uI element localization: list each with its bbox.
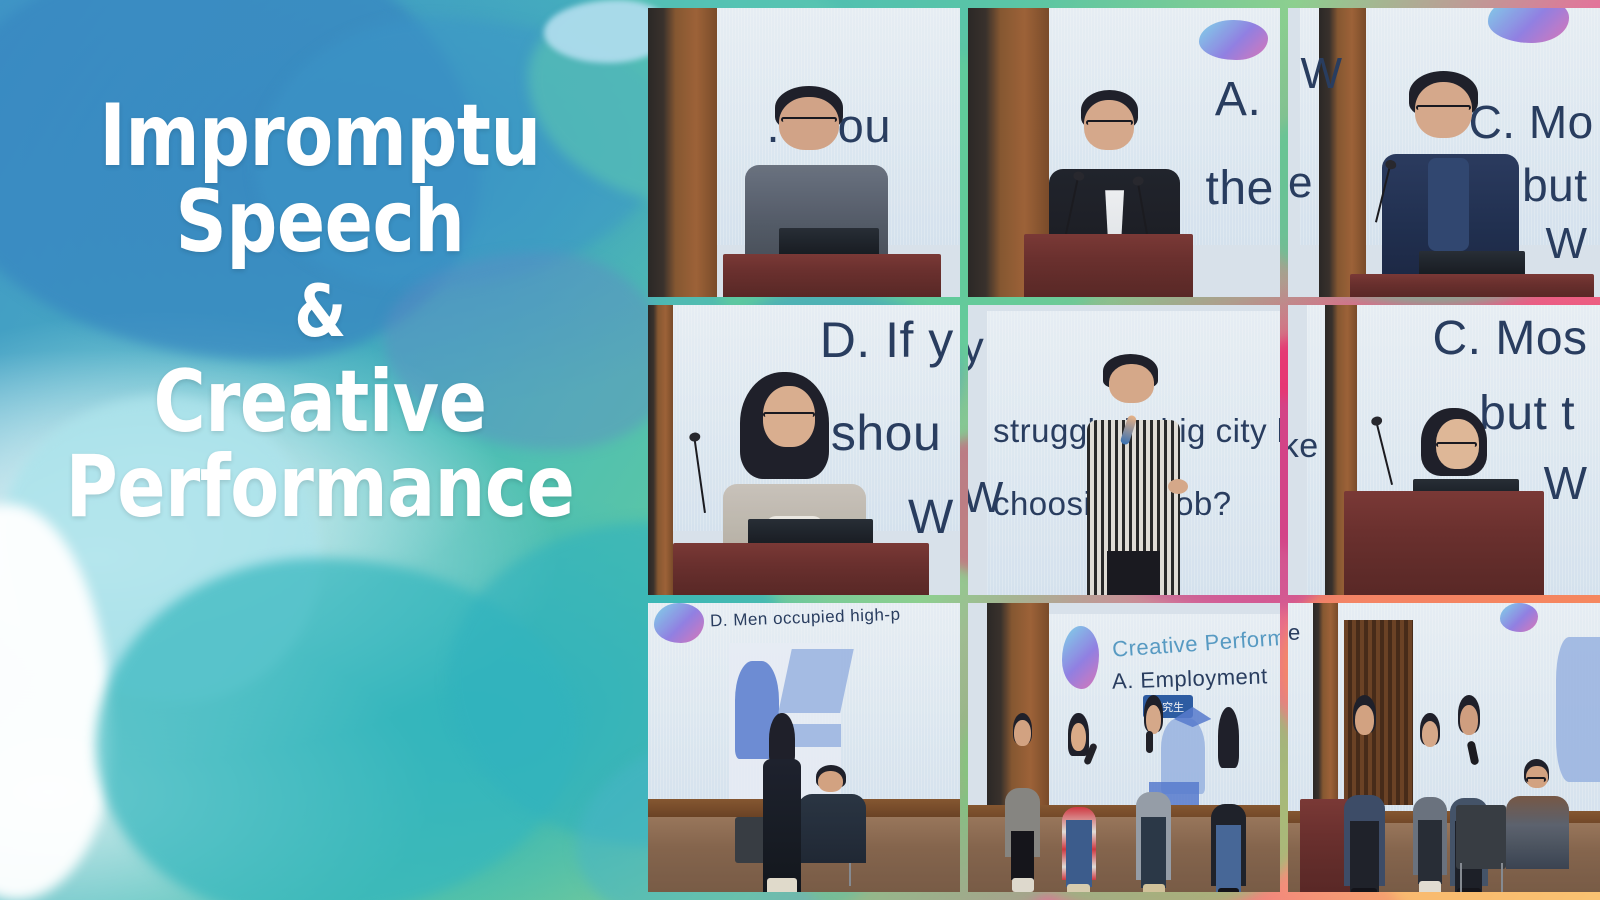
- photo-cell-bottom-left: D. Men occupied high-p: [648, 603, 960, 892]
- photo-cell-bottom-right: e: [1288, 603, 1600, 892]
- photo-cell-top-center: A. the: [968, 8, 1280, 297]
- photo-grid: . Wou A. the: [640, 0, 1600, 900]
- photo-cell-middle-left: D. If y shou W: [648, 305, 960, 594]
- poster-canvas: Impromptu Speech & Creative Performance …: [0, 0, 1600, 900]
- photo-cell-top-right: W e C. Mo but W: [1288, 8, 1600, 297]
- photo-cell-middle-center: y W struggle in big city li choosing a j…: [968, 305, 1280, 594]
- photo-cell-bottom-center: Creative Performance A. Employment 研究生: [968, 603, 1280, 892]
- photo-cell-top-left: . Wou: [648, 8, 960, 297]
- photo-cell-middle-right: ke C. Mos but t W: [1288, 305, 1600, 594]
